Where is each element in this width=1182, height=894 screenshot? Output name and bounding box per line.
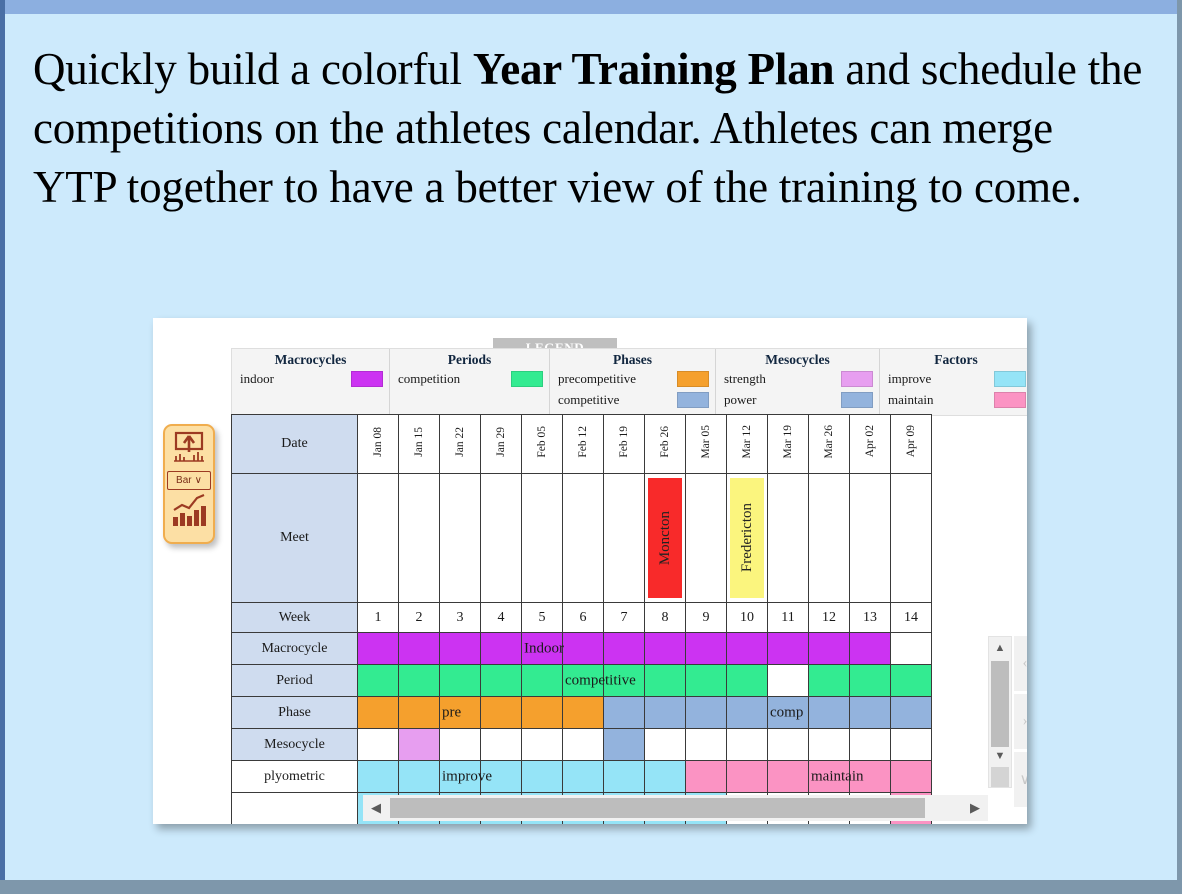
date-row: DateJan 08Jan 15Jan 22Jan 29Feb 05Feb 12… [232, 415, 932, 474]
legend-entry: competitive [550, 389, 715, 410]
legend-entry-label: competitive [558, 392, 619, 408]
band-cell[interactable] [645, 761, 686, 793]
week-cell[interactable]: 12 [809, 603, 850, 633]
band-cell[interactable] [727, 761, 768, 793]
meet-cell[interactable] [522, 474, 563, 603]
legend-entry-swatch [677, 371, 709, 387]
band-cell[interactable]: improve [440, 761, 481, 793]
headline-text-lead: Quickly build a colorful [33, 44, 473, 94]
legend-entry: power [716, 389, 879, 410]
legend-entry-swatch [994, 371, 1026, 387]
nav-down-icon[interactable]: ∨ [1014, 752, 1027, 807]
headline-text-emphasis: Year Training Plan [473, 44, 834, 94]
vertical-scroll-thumb[interactable] [991, 661, 1009, 747]
band-cell[interactable] [645, 697, 686, 729]
legend-entry: maintain [880, 389, 1027, 410]
legend-group-factors: Factorsimprovemaintain [880, 349, 1027, 415]
legend-entry-swatch [994, 392, 1026, 408]
date-label: Jan 22 [454, 427, 466, 457]
week-cell[interactable]: 14 [891, 603, 932, 633]
legend-entry-label: power [724, 392, 757, 408]
band-cell[interactable] [645, 633, 686, 665]
legend-entry: improve [880, 368, 1027, 389]
week-row: Week1234567891011121314 [232, 603, 932, 633]
date-label: Mar 26 [823, 425, 835, 459]
band-cell[interactable] [399, 729, 440, 761]
legend-group-title: Phases [550, 349, 715, 368]
horizontal-scrollbar[interactable]: ◀ ▶ [363, 795, 988, 821]
band-cell[interactable] [604, 665, 645, 697]
slide-top-band [0, 0, 1182, 14]
nav-next-icon[interactable]: › [1014, 694, 1027, 749]
legend-entry-swatch [841, 392, 873, 408]
week-cell[interactable]: 5 [522, 603, 563, 633]
band-cell[interactable] [481, 697, 522, 729]
date-cell[interactable]: Jan 29 [481, 415, 522, 474]
date-cell[interactable]: Feb 19 [604, 415, 645, 474]
chevron-down-icon: ∨ [195, 475, 202, 486]
legend-entry-label: competition [398, 371, 460, 387]
ytp-table: DateJan 08Jan 15Jan 22Jan 29Feb 05Feb 12… [231, 414, 932, 824]
meet-cell[interactable] [686, 474, 727, 603]
band-cell[interactable] [440, 665, 481, 697]
band-cell[interactable] [727, 633, 768, 665]
meet-cell[interactable] [399, 474, 440, 603]
date-cell[interactable]: Jan 08 [358, 415, 399, 474]
band-cell[interactable] [399, 697, 440, 729]
meet-cell[interactable]: Fredericton [727, 474, 768, 603]
scroll-right-arrow-icon[interactable]: ▶ [962, 795, 988, 821]
nav-previous-icon[interactable]: ‹ [1014, 636, 1027, 691]
week-cell[interactable]: 13 [850, 603, 891, 633]
legend-group-macrocycles: Macrocyclesindoor [232, 349, 390, 415]
slide-right-edge [1177, 0, 1182, 894]
band-cell[interactable] [727, 697, 768, 729]
date-cell[interactable]: Mar 12 [727, 415, 768, 474]
meet-cell[interactable] [481, 474, 522, 603]
band-row-period: Periodcompetitive [232, 665, 932, 697]
band-cell[interactable] [809, 697, 850, 729]
meet-label: Fredericton [739, 503, 756, 572]
band-cell[interactable] [522, 729, 563, 761]
band-cell[interactable] [768, 665, 809, 697]
band-cell[interactable]: Indoor [522, 633, 563, 665]
date-cell[interactable]: Feb 26 [645, 415, 686, 474]
band-cell[interactable] [686, 761, 727, 793]
legend-group-mesocycles: Mesocyclesstrengthpower [716, 349, 880, 415]
band-cell[interactable] [727, 665, 768, 697]
meet-entry[interactable]: Moncton [648, 478, 682, 598]
legend-entry-swatch [511, 371, 543, 387]
band-cell[interactable] [522, 665, 563, 697]
band-cell[interactable] [358, 665, 399, 697]
band-cell[interactable]: competitive [563, 665, 604, 697]
legend-panel: MacrocyclesindoorPeriodscompetitionPhase… [231, 348, 1027, 416]
legend-entry-label: strength [724, 371, 766, 387]
legend-group-title: Mesocycles [716, 349, 879, 368]
meet-cell[interactable] [358, 474, 399, 603]
band-cell[interactable] [399, 761, 440, 793]
date-label: Apr 02 [864, 425, 876, 457]
band-cell[interactable] [686, 697, 727, 729]
band-row-mesocycle: Mesocycle [232, 729, 932, 761]
band-cell[interactable] [604, 761, 645, 793]
band-cell[interactable] [686, 665, 727, 697]
date-cell[interactable]: Mar 05 [686, 415, 727, 474]
scroll-down-arrow-icon[interactable]: ▼ [989, 745, 1011, 767]
band-cell[interactable] [809, 633, 850, 665]
vertical-scrollbar[interactable]: ▲ ▼ [988, 636, 1012, 788]
band-cell[interactable] [358, 761, 399, 793]
meet-row: MeetMonctonFredericton [232, 474, 932, 603]
band-cell[interactable]: pre [440, 697, 481, 729]
band-cell[interactable] [891, 697, 932, 729]
row-header-week: Week [232, 603, 358, 633]
legend-entry: precompetitive [550, 368, 715, 389]
band-cell[interactable] [850, 633, 891, 665]
band-cell[interactable] [850, 665, 891, 697]
meet-cell[interactable] [850, 474, 891, 603]
band-cell[interactable] [891, 665, 932, 697]
band-cell[interactable] [563, 633, 604, 665]
legend-group-phases: Phasesprecompetitivecompetitive [550, 349, 716, 415]
band-cell[interactable] [891, 633, 932, 665]
legend-group-periods: Periodscompetition [390, 349, 550, 415]
legend-entry: competition [390, 368, 549, 389]
band-cell[interactable] [604, 633, 645, 665]
date-label: Mar 05 [700, 425, 712, 459]
band-cell[interactable] [481, 633, 522, 665]
band-cell[interactable] [891, 761, 932, 793]
date-cell[interactable]: Apr 02 [850, 415, 891, 474]
bar-chart-icon[interactable] [171, 493, 207, 532]
week-cell[interactable]: 9 [686, 603, 727, 633]
band-cell[interactable] [358, 729, 399, 761]
slide-left-edge [0, 0, 5, 894]
band-cell[interactable] [891, 729, 932, 761]
date-label: Jan 29 [495, 427, 507, 457]
band-cell[interactable] [604, 729, 645, 761]
chart-type-value: Bar [176, 475, 192, 486]
meet-cell[interactable] [768, 474, 809, 603]
row-header-macrocycle: Macrocycle [232, 633, 358, 665]
chart-type-select[interactable]: Bar ∨ [167, 471, 211, 490]
date-cell[interactable]: Jan 15 [399, 415, 440, 474]
row-header-mesocycle: Mesocycle [232, 729, 358, 761]
scroll-left-arrow-icon[interactable]: ◀ [363, 795, 389, 821]
date-cell[interactable]: Feb 05 [522, 415, 563, 474]
date-label: Feb 05 [536, 426, 548, 458]
meet-cell[interactable]: Moncton [645, 474, 686, 603]
legend-entry-label: maintain [888, 392, 934, 408]
band-cell[interactable] [809, 665, 850, 697]
band-cell-label: pre [442, 704, 461, 721]
band-cell[interactable] [727, 729, 768, 761]
band-cell[interactable] [850, 761, 891, 793]
week-cell[interactable]: 8 [645, 603, 686, 633]
band-cell[interactable] [768, 761, 809, 793]
legend-group-title: Periods [390, 349, 549, 368]
band-cell[interactable] [481, 761, 522, 793]
legend-entry-swatch [677, 392, 709, 408]
band-cell[interactable] [358, 697, 399, 729]
date-label: Feb 19 [618, 426, 630, 458]
band-cell[interactable] [399, 665, 440, 697]
band-cell[interactable] [399, 633, 440, 665]
slide-headline: Quickly build a colorful Year Training P… [33, 40, 1143, 217]
row-header-meet: Meet [232, 474, 358, 603]
band-row-macrocycle: MacrocycleIndoor [232, 633, 932, 665]
band-cell[interactable] [645, 729, 686, 761]
ytp-grid[interactable]: DateJan 08Jan 15Jan 22Jan 29Feb 05Feb 12… [231, 414, 1027, 804]
week-cell[interactable]: 1 [358, 603, 399, 633]
legend-entry-swatch [841, 371, 873, 387]
date-cell[interactable]: Mar 19 [768, 415, 809, 474]
scroll-up-arrow-icon[interactable]: ▲ [989, 637, 1011, 659]
legend-entry-label: precompetitive [558, 371, 636, 387]
date-label: Mar 12 [741, 425, 753, 459]
insert-chart-icon[interactable] [172, 431, 206, 468]
band-cell[interactable] [645, 665, 686, 697]
band-cell[interactable] [850, 697, 891, 729]
date-cell[interactable]: Jan 22 [440, 415, 481, 474]
row-header-date: Date [232, 415, 358, 474]
row-header-phase: Phase [232, 697, 358, 729]
meet-cell[interactable] [440, 474, 481, 603]
meet-entry[interactable]: Fredericton [730, 478, 764, 598]
panel-navigation-column[interactable]: ‹ › ∨ [1014, 636, 1027, 808]
chart-widget-toolbar[interactable]: Bar ∨ [163, 424, 215, 544]
band-cell[interactable] [440, 633, 481, 665]
band-cell[interactable] [522, 761, 563, 793]
week-cell[interactable]: 10 [727, 603, 768, 633]
band-cell[interactable] [563, 761, 604, 793]
band-cell[interactable]: comp [768, 697, 809, 729]
band-cell[interactable] [850, 729, 891, 761]
band-cell[interactable] [768, 729, 809, 761]
week-cell[interactable]: 2 [399, 603, 440, 633]
date-label: Apr 09 [905, 425, 917, 457]
week-cell[interactable]: 11 [768, 603, 809, 633]
band-cell[interactable] [481, 729, 522, 761]
band-cell[interactable] [358, 633, 399, 665]
week-cell[interactable]: 6 [563, 603, 604, 633]
band-cell[interactable] [686, 729, 727, 761]
date-label: Jan 15 [413, 427, 425, 457]
legend-group-title: Factors [880, 349, 1027, 368]
ytp-application-screenshot: LEGEND MacrocyclesindoorPeriodscompetiti… [153, 318, 1027, 824]
date-label: Feb 26 [659, 426, 671, 458]
row-header- [232, 793, 358, 825]
date-cell[interactable]: Apr 09 [891, 415, 932, 474]
date-label: Mar 19 [782, 425, 794, 459]
vertical-scroll-track-bottom[interactable] [991, 767, 1009, 787]
band-cell-label: Indoor [524, 640, 564, 657]
band-cell[interactable]: maintain [809, 761, 850, 793]
horizontal-scroll-thumb[interactable] [390, 798, 925, 818]
band-row-plyometric: plyometricimprovemaintain [232, 761, 932, 793]
week-cell[interactable]: 4 [481, 603, 522, 633]
meet-cell[interactable] [891, 474, 932, 603]
legend-group-title: Macrocycles [232, 349, 389, 368]
meet-cell[interactable] [809, 474, 850, 603]
row-header-period: Period [232, 665, 358, 697]
date-cell[interactable]: Feb 12 [563, 415, 604, 474]
band-cell[interactable] [440, 729, 481, 761]
band-cell[interactable] [768, 633, 809, 665]
meet-label: Moncton [657, 511, 674, 565]
band-cell[interactable] [686, 633, 727, 665]
band-cell-label: comp [770, 704, 803, 721]
week-cell[interactable]: 7 [604, 603, 645, 633]
band-cell[interactable] [563, 729, 604, 761]
legend-entry: indoor [232, 368, 389, 389]
meet-cell[interactable] [604, 474, 645, 603]
meet-cell[interactable] [563, 474, 604, 603]
legend-entry-label: indoor [240, 371, 274, 387]
date-label: Jan 08 [372, 427, 384, 457]
band-cell[interactable] [563, 697, 604, 729]
band-cell[interactable] [522, 697, 563, 729]
row-header-plyometric: plyometric [232, 761, 358, 793]
legend-entry: strength [716, 368, 879, 389]
legend-entry-swatch [351, 371, 383, 387]
band-row-phase: Phaseprecomp [232, 697, 932, 729]
band-cell[interactable] [809, 729, 850, 761]
band-cell[interactable] [604, 697, 645, 729]
legend-entry-label: improve [888, 371, 931, 387]
band-cell[interactable] [481, 665, 522, 697]
date-label: Feb 12 [577, 426, 589, 458]
week-cell[interactable]: 3 [440, 603, 481, 633]
date-cell[interactable]: Mar 26 [809, 415, 850, 474]
slide-bottom-band [0, 880, 1182, 894]
